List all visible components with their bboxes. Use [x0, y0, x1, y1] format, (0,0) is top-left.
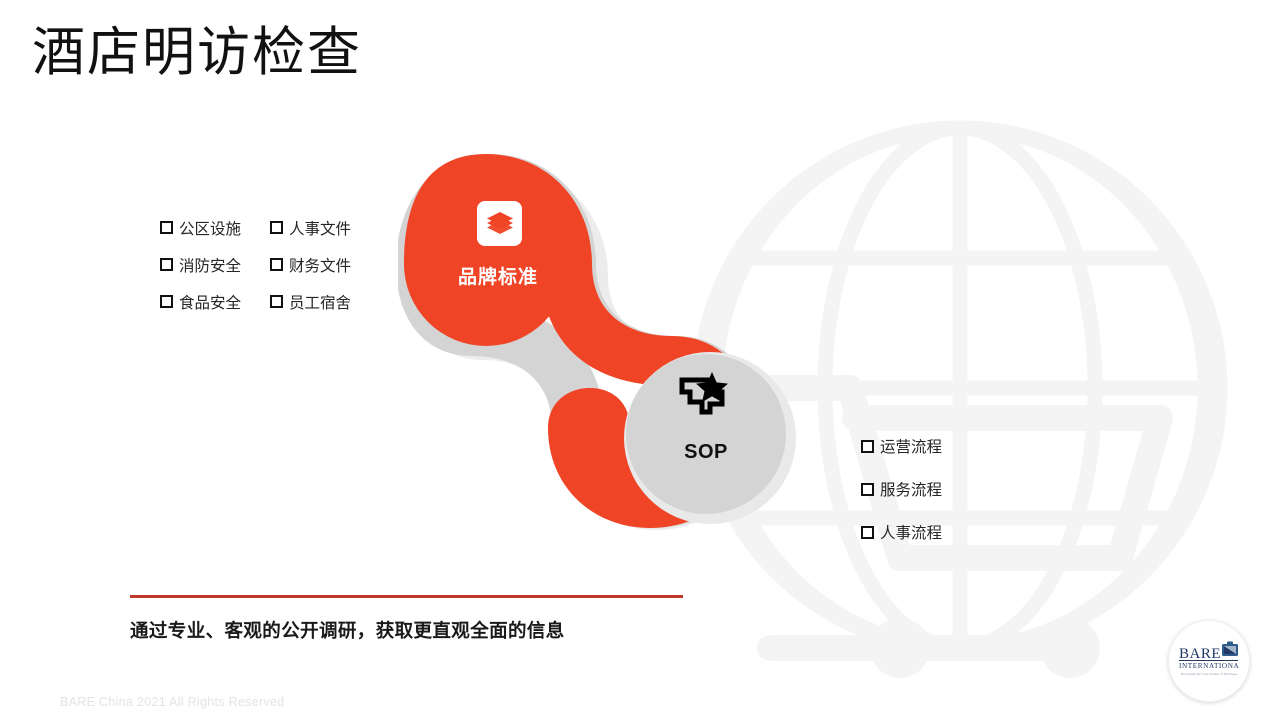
right-checklist: 运营流程 服务流程 人事流程: [861, 435, 942, 543]
checklist-item[interactable]: 服务流程: [861, 478, 942, 500]
svg-text:Revealing the True Nature of B: Revealing the True Nature of Business: [1181, 672, 1238, 676]
briefcase-icon: [1222, 642, 1238, 657]
checkbox-icon[interactable]: [160, 258, 173, 271]
checklist-item[interactable]: 人事流程: [861, 521, 942, 543]
svg-text:BARE: BARE: [1179, 646, 1221, 662]
checklist-item[interactable]: 员工宿舍: [270, 291, 380, 313]
checklist-item-label: 人事文件: [289, 217, 351, 239]
bare-international-logo: BARE INTERNATIONAL Revealing the True Na…: [1168, 620, 1250, 702]
checklist-item[interactable]: 公区设施: [160, 217, 270, 239]
checklist-item-label: 运营流程: [880, 435, 942, 457]
checklist-item[interactable]: 消防安全: [160, 254, 270, 276]
checkbox-icon[interactable]: [270, 295, 283, 308]
left-checklist: 公区设施 人事文件 消防安全 财务文件 食品安全 员工宿舍: [160, 209, 380, 320]
brand-node-label: 品牌标准: [398, 262, 598, 289]
checkbox-icon[interactable]: [861, 440, 874, 453]
copyright-footer: BARE China 2021 All Rights Reserved: [60, 695, 285, 709]
checklist-item-label: 公区设施: [179, 217, 241, 239]
checklist-item-label: 消防安全: [179, 254, 241, 276]
checklist-item[interactable]: 人事文件: [270, 217, 380, 239]
slide-canvas: 酒店明访检查 公区设施 人事文件 消防安全 财务文件 食品安全 员工宿舍: [0, 0, 1280, 720]
checkbox-icon[interactable]: [861, 483, 874, 496]
checklist-item[interactable]: 财务文件: [270, 254, 380, 276]
process-knot-diagram: [398, 146, 818, 546]
checkbox-icon[interactable]: [160, 295, 173, 308]
sop-node-label: SOP: [640, 441, 772, 464]
checklist-item-label: 人事流程: [880, 521, 942, 543]
svg-text:INTERNATIONAL: INTERNATIONAL: [1179, 662, 1240, 670]
checklist-item-label: 财务文件: [289, 254, 351, 276]
summary-caption: 通过专业、客观的公开调研，获取更直观全面的信息: [130, 617, 565, 643]
page-title: 酒店明访检查: [32, 22, 362, 85]
checkbox-icon[interactable]: [861, 526, 874, 539]
logo-mark: BARE INTERNATIONAL Revealing the True Na…: [1178, 641, 1240, 681]
flag-star-icon: [676, 372, 728, 418]
layers-icon: [486, 211, 514, 237]
checkbox-icon[interactable]: [270, 221, 283, 234]
checklist-item-label: 服务流程: [880, 478, 942, 500]
divider-rule: [130, 595, 683, 598]
checklist-item-label: 员工宿舍: [289, 291, 351, 313]
checkbox-icon[interactable]: [160, 221, 173, 234]
brand-icon-badge: [477, 201, 522, 246]
checklist-item-label: 食品安全: [179, 291, 241, 313]
checkbox-icon[interactable]: [270, 258, 283, 271]
checklist-item[interactable]: 运营流程: [861, 435, 942, 457]
checklist-item[interactable]: 食品安全: [160, 291, 270, 313]
